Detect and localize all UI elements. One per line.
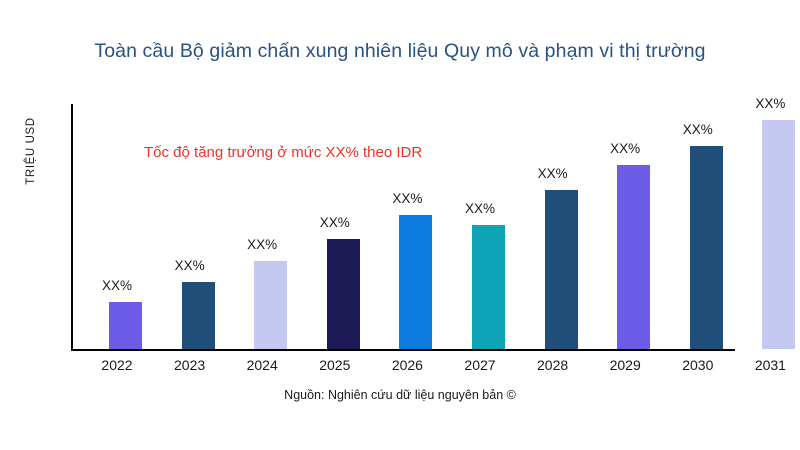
bar[interactable]: [182, 282, 215, 349]
plot-area: XX%2022XX%2023XX%2024XX%2025XX%2026XX%20…: [0, 0, 800, 450]
bar-group: XX%2024: [234, 0, 307, 450]
bar-group: XX%2028: [525, 0, 598, 450]
x-axis-tick-label: 2023: [154, 357, 226, 373]
x-axis-tick-label: 2030: [662, 357, 734, 373]
x-axis-tick-label: 2029: [589, 357, 661, 373]
bar-value-label: XX%: [154, 258, 226, 273]
source-note: Nguồn: Nghiên cứu dữ liệu nguyên bản ©: [0, 388, 800, 402]
bar[interactable]: [690, 146, 723, 349]
bar-value-label: XX%: [81, 278, 153, 293]
x-axis-tick-label: 2027: [444, 357, 516, 373]
bar[interactable]: [399, 215, 432, 349]
bar-value-label: XX%: [444, 201, 516, 216]
bar-value-label: XX%: [662, 122, 734, 137]
x-axis-tick-label: 2024: [226, 357, 298, 373]
bar-value-label: XX%: [589, 141, 661, 156]
bar-group: XX%2022: [89, 0, 162, 450]
bar[interactable]: [762, 120, 795, 349]
bar-value-label: XX%: [226, 237, 298, 252]
bar[interactable]: [327, 239, 360, 349]
x-axis-tick-label: 2031: [734, 357, 800, 373]
bar-group: XX%2026: [379, 0, 452, 450]
bar[interactable]: [254, 261, 287, 349]
x-axis-tick-label: 2025: [299, 357, 371, 373]
bar-value-label: XX%: [734, 96, 800, 111]
bar-group: XX%2030: [670, 0, 743, 450]
y-axis-line: [71, 104, 73, 351]
bar-group: XX%2025: [307, 0, 380, 450]
bar-value-label: XX%: [299, 215, 371, 230]
x-axis-tick-label: 2026: [371, 357, 443, 373]
bar-group: XX%2023: [162, 0, 235, 450]
bar-group: XX%2027: [452, 0, 525, 450]
bar-value-label: XX%: [371, 191, 443, 206]
bar-value-label: XX%: [517, 166, 589, 181]
bar[interactable]: [109, 302, 142, 349]
bar[interactable]: [472, 225, 505, 349]
chart-container: Toàn cầu Bộ giảm chấn xung nhiên liệu Qu…: [0, 0, 800, 450]
bar-group: XX%2029: [597, 0, 670, 450]
x-axis-tick-label: 2022: [81, 357, 153, 373]
bar[interactable]: [545, 190, 578, 349]
bar-group: XX%2031: [742, 0, 800, 450]
bar[interactable]: [617, 165, 650, 349]
x-axis-tick-label: 2028: [517, 357, 589, 373]
